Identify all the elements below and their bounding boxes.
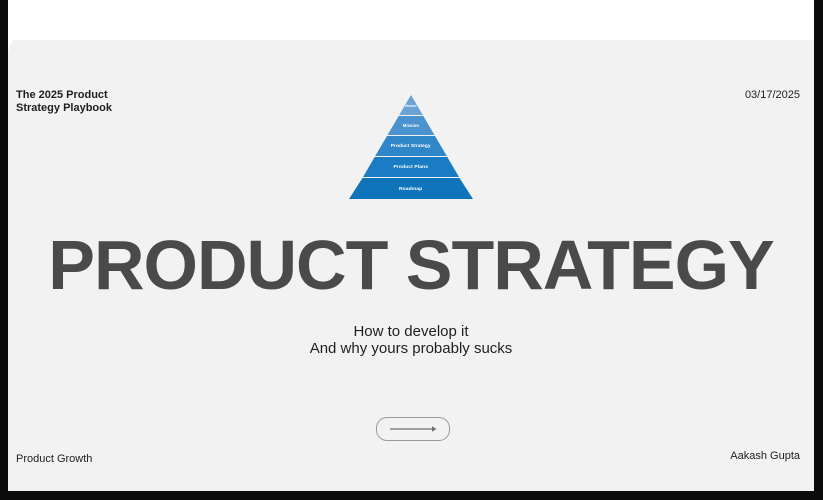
pyramid-tier-vision-label: Vision [405,103,417,108]
pyramid-tier-roadmap-label: Roadmap [399,186,422,192]
pyramid-shape: Vision Mission Product Strategy Product … [349,95,473,200]
subtitle-line-1: How to develop it [8,324,814,341]
footer-left: Product Growth [16,453,92,465]
pyramid-tier-product-strategy-label: Product Strategy [391,143,431,149]
continue-button[interactable] [376,417,450,441]
pyramid-tier-vision: Vision [349,95,473,115]
header-brand: The 2025 Product Strategy Playbook [16,89,112,114]
slide-canvas: The 2025 Product Strategy Playbook 03/17… [0,0,823,500]
arrow-right-icon [389,424,437,434]
footer-right: Aakash Gupta [730,450,800,462]
pyramid-tier-roadmap: Roadmap [349,178,473,200]
pyramid-tier-mission: Mission [349,116,473,135]
header-date: 03/17/2025 [745,89,800,101]
frame-bottom-edge [0,491,823,500]
pyramid-tier-product-plans-label: Product Plans [394,164,429,170]
pyramid-tier-product-plans: Product Plans [349,157,473,177]
frame-right-edge [814,0,823,500]
slide-content: The 2025 Product Strategy Playbook 03/17… [8,33,814,491]
subtitle-line-2: And why yours probably sucks [8,341,814,358]
pyramid-tier-product-strategy: Product Strategy [349,136,473,156]
page-title: PRODUCT STRATEGY [8,230,814,300]
page-subtitle: How to develop it And why yours probably… [8,324,814,357]
frame-left-edge [0,0,8,500]
pyramid-graphic: Vision Mission Product Strategy Product … [349,95,473,200]
pyramid-tier-mission-label: Mission [403,123,419,128]
